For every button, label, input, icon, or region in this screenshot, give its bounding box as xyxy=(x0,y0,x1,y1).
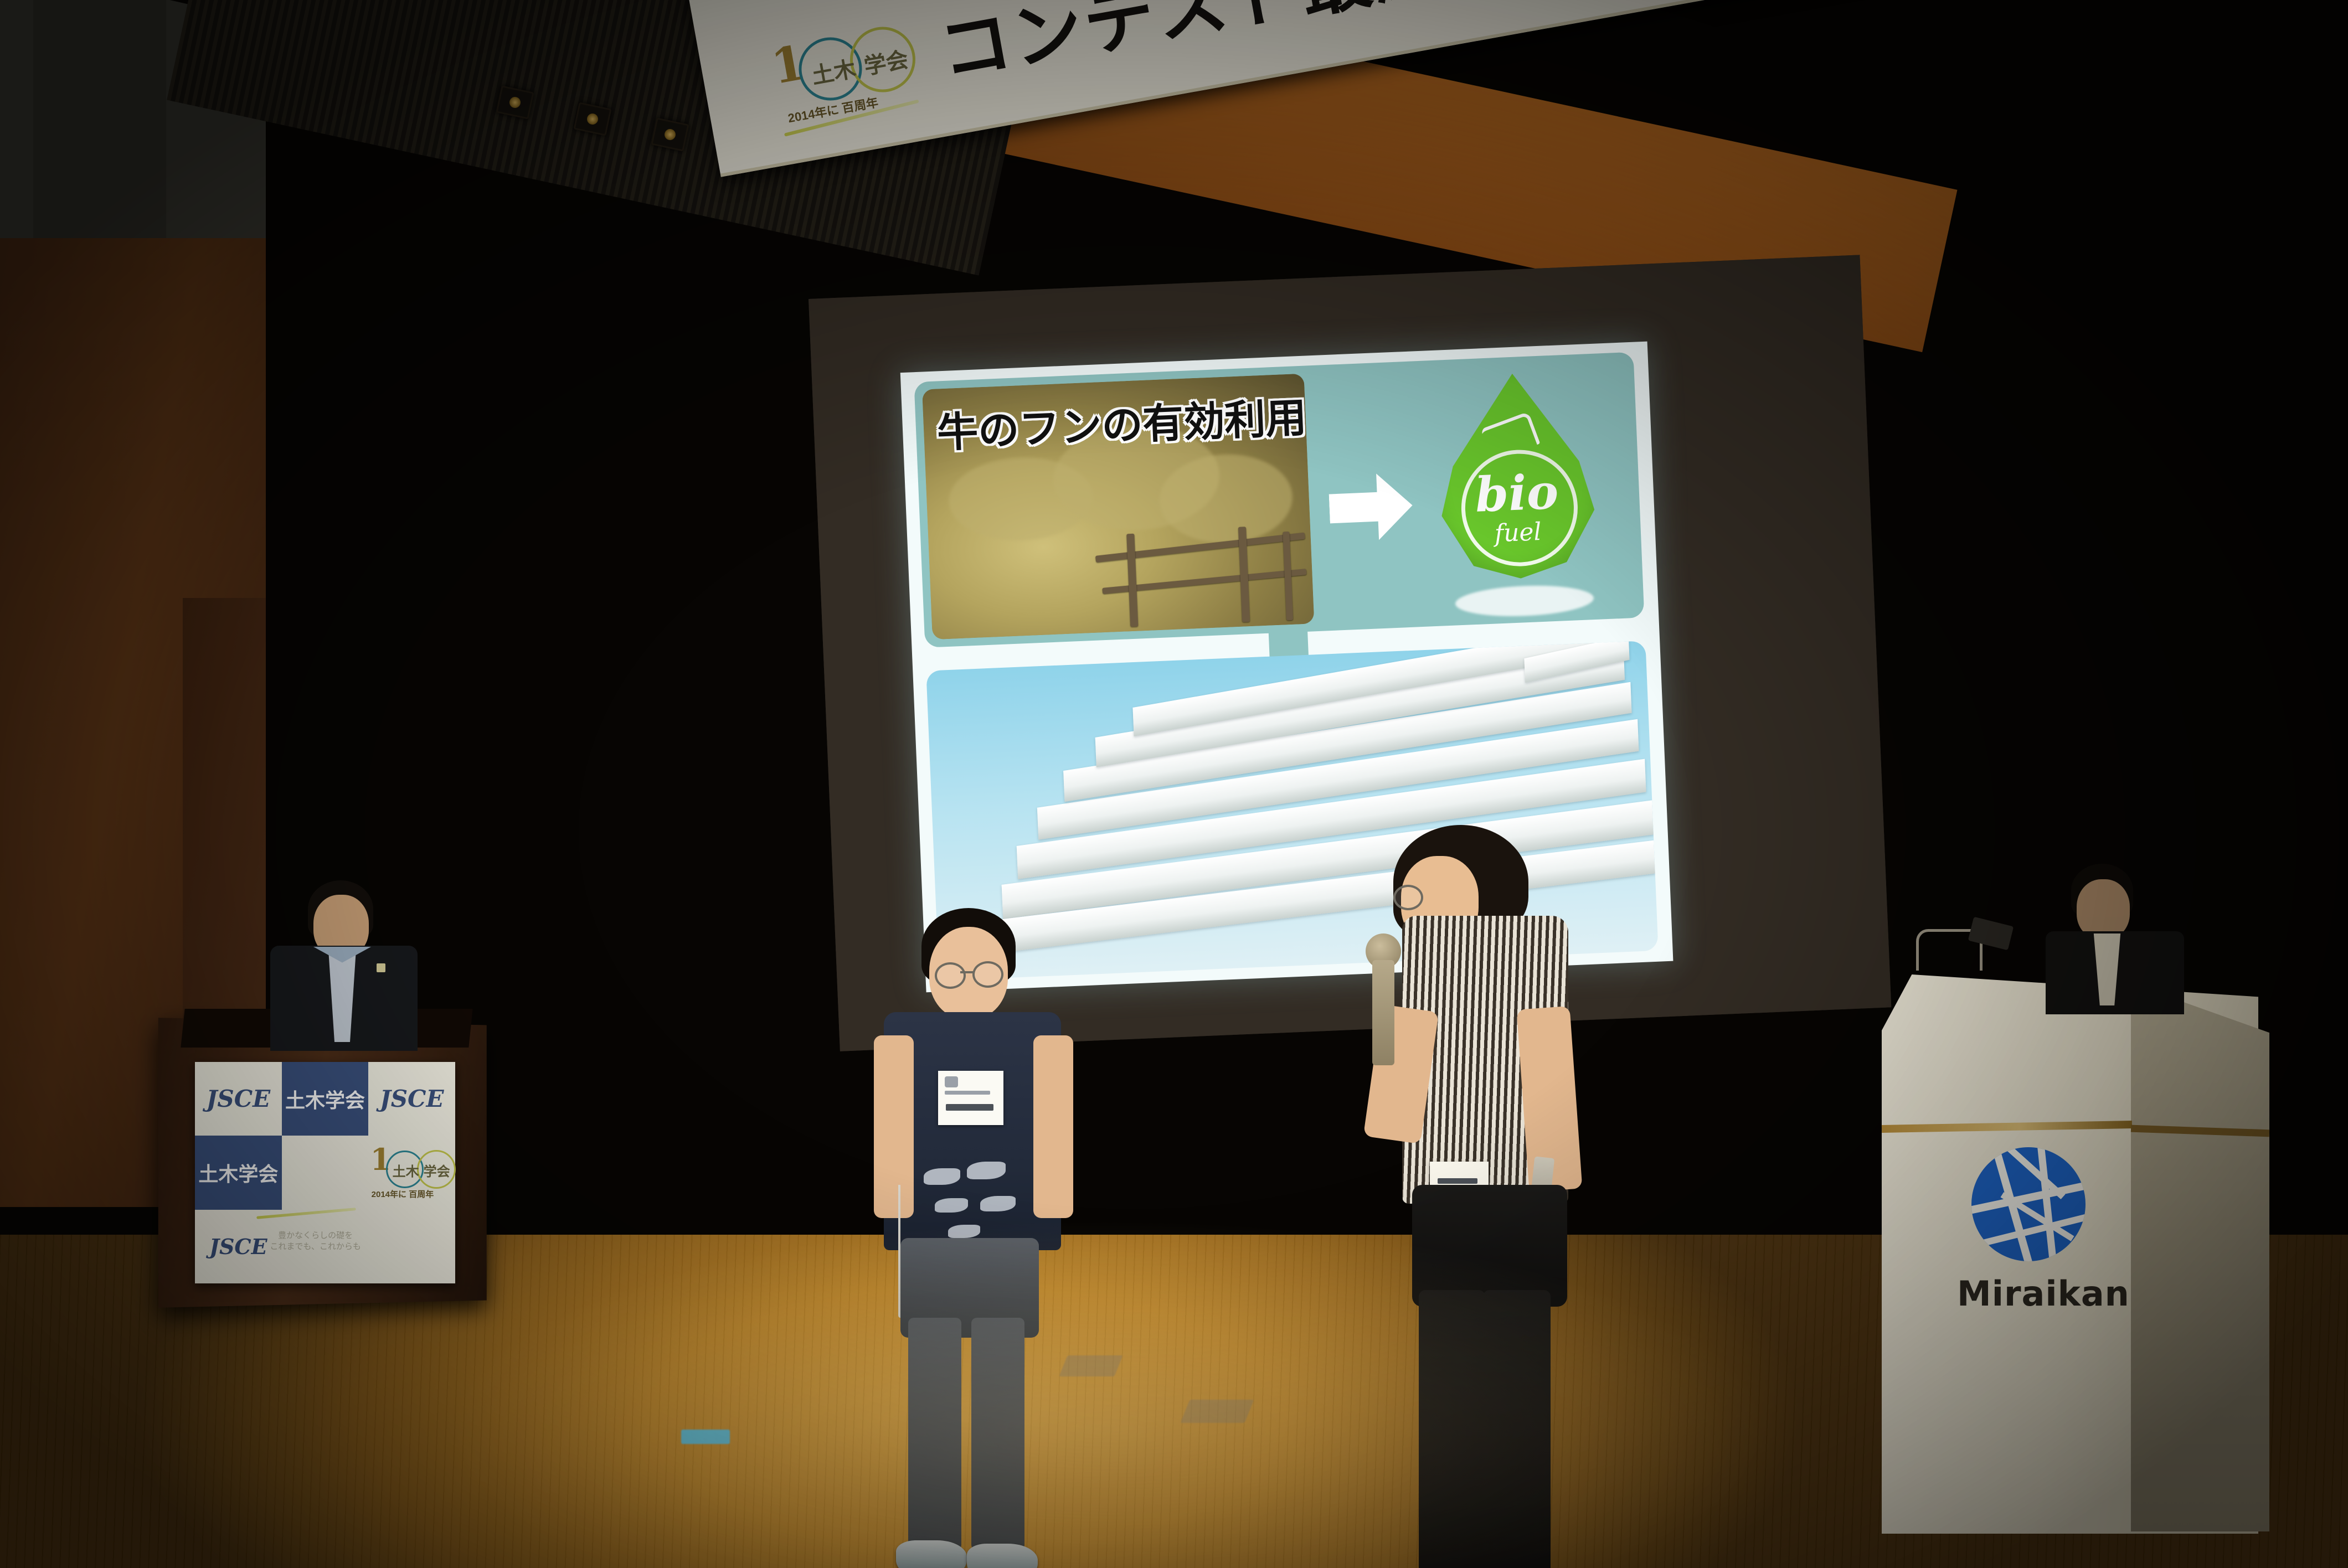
jsce-cell-8: 豊かなくらしの礎を これまでも、これからも xyxy=(282,1210,369,1283)
jsce-wordmark: JSCE xyxy=(207,1085,271,1112)
biofuel-fuel-label: fuel xyxy=(1494,518,1542,548)
person-staff-left xyxy=(260,880,437,1046)
miraikan-globe-icon xyxy=(1971,1147,2086,1261)
podium-gooseneck-microphone xyxy=(1911,897,2038,986)
arrow-right-icon xyxy=(1328,472,1414,542)
boy-glasses-left-lens xyxy=(935,962,966,989)
boy-shirt-graphic-5 xyxy=(948,1225,980,1238)
boy-arm-left xyxy=(874,1035,914,1218)
staff-left-lapel-pin xyxy=(377,963,385,972)
biofuel-bio-label: bio xyxy=(1474,464,1559,523)
miraikan-podium-right-face xyxy=(2131,983,2269,1531)
boy-shirt-graphic-3 xyxy=(935,1198,968,1213)
woman-badge-line xyxy=(1438,1178,1477,1184)
person-staff-right xyxy=(2043,864,2210,1002)
floor-blue-tape-mark xyxy=(681,1430,730,1444)
jsce-cell-5 xyxy=(282,1136,369,1209)
jsce-cell-3: JSCE xyxy=(368,1062,455,1136)
floor-trap-panel-2 xyxy=(1181,1400,1254,1423)
boy-name-badge xyxy=(938,1071,1003,1125)
anniversary-logo-podium: 1 土木 学会 2014年に 百周年 xyxy=(370,1139,454,1206)
boy-leg-right xyxy=(971,1318,1024,1550)
woman-glasses-lens xyxy=(1393,885,1423,910)
boy-glasses-right-lens xyxy=(972,961,1003,988)
society-wordmark-2: 土木学会 xyxy=(198,1158,278,1187)
jsce-cell-6: 1 土木 学会 2014年に 百周年 xyxy=(368,1136,455,1209)
jsce-wordmark-2: JSCE xyxy=(380,1085,444,1112)
boy-shoe-right xyxy=(967,1544,1038,1568)
staff-right-head xyxy=(2077,879,2130,939)
biofuel-drop-shadow xyxy=(1455,583,1594,618)
anniversary-logo-banner: 1 土木 学会 2014年に 百周年 xyxy=(761,0,945,140)
boy-leg-left xyxy=(908,1318,961,1550)
jsce-cell-2: 土木学会 xyxy=(282,1062,369,1136)
jsce-cell-9 xyxy=(368,1210,455,1283)
handheld-microphone xyxy=(1372,960,1394,1065)
woman-leg-left xyxy=(1419,1290,1485,1568)
boy-arm-right xyxy=(1033,1035,1073,1218)
boy-glasses-bridge xyxy=(960,971,974,973)
boy-shirt-graphic-4 xyxy=(980,1196,1016,1211)
miraikan-wordmark: Miraikan xyxy=(1957,1273,2130,1314)
person-host-woman xyxy=(1340,825,1606,1478)
jsce-slogan-line2: これまでも、これからも xyxy=(270,1241,361,1251)
badge-name-line xyxy=(946,1104,993,1111)
jsce-cell-4: 土木学会 xyxy=(195,1136,282,1209)
jsce-logo-panel: JSCE 土木学会 JSCE 土木学会 1 土木 学会 2014年に 百周年 J… xyxy=(195,1062,455,1283)
anniversary-year-podium: 2014年に 百周年 xyxy=(372,1188,434,1200)
jsce-slogan-line1: 豊かなくらしの礎を xyxy=(278,1230,353,1240)
woman-trousers xyxy=(1412,1185,1567,1307)
anniversary-kanji-left-podium: 土木 xyxy=(393,1160,419,1180)
jsce-cell-1: JSCE xyxy=(195,1062,282,1136)
badge-logo-mark xyxy=(945,1076,958,1087)
woman-leg-right xyxy=(1483,1290,1551,1568)
fence-post-1 xyxy=(1126,534,1138,627)
person-finalist-boy xyxy=(864,908,1096,1462)
boy-shoe-left xyxy=(896,1540,967,1568)
boy-shirt-graphic-1 xyxy=(924,1168,960,1185)
slide-top-panel: 牛のフンの有効利用 bio fuel xyxy=(914,352,1644,648)
jsce-slogan: 豊かなくらしの礎を これまでも、これからも xyxy=(252,1230,379,1252)
boy-shirt-graphic-2 xyxy=(967,1162,1006,1179)
auditorium-stage-photo: 土木学会創立100周年記念 コンテスト最終選考会 1 土木 学会 2014年に … xyxy=(0,0,2348,1568)
badge-org-line xyxy=(945,1091,990,1095)
anniversary-kanji-right-podium: 学会 xyxy=(424,1160,450,1180)
society-wordmark: 土木学会 xyxy=(285,1085,365,1113)
